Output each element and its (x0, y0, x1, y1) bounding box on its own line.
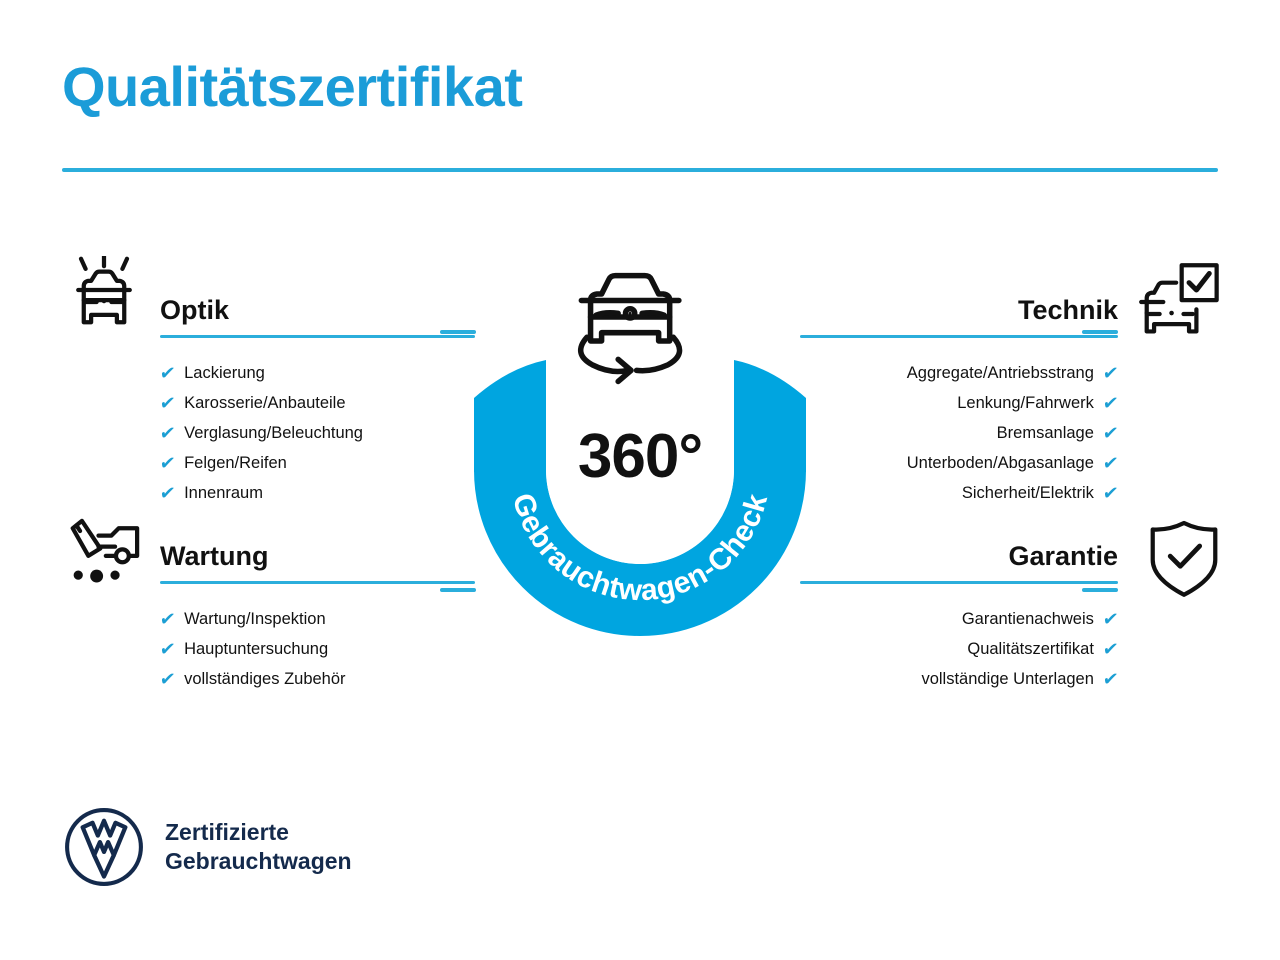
car-checkbox-icon (1132, 256, 1224, 348)
check-icon: ✔ (159, 394, 177, 412)
quality-certificate-page: { "header": { "title": "Qualitätszertifi… (0, 0, 1280, 960)
check-icon: ✔ (159, 424, 177, 442)
check-icon: ✔ (159, 364, 177, 382)
list-item-label: Unterboden/Abgasanlage (907, 448, 1094, 478)
check-icon: ✔ (1102, 364, 1120, 382)
section-heading-optik: Optik (160, 296, 475, 324)
list-item-label: Wartung/Inspektion (184, 604, 326, 634)
check-icon: ✔ (159, 484, 177, 502)
check-icon: ✔ (1102, 424, 1120, 442)
check-icon: ✔ (1102, 610, 1120, 628)
check-icon: ✔ (159, 454, 177, 472)
section-wartung: Wartung ✔Wartung/Inspektion ✔Hauptunters… (160, 542, 475, 694)
checklist-technik: Aggregate/Antriebsstrang✔ Lenkung/Fahrwe… (800, 358, 1118, 508)
checklist-optik: ✔Lackierung ✔Karosserie/Anbauteile ✔Verg… (160, 358, 475, 508)
volkswagen-certified-logo: Zertifizierte Gebrauchtwagen (63, 806, 352, 888)
list-item-label: vollständiges Zubehör (184, 664, 345, 694)
list-item: vollständige Unterlagen✔ (800, 664, 1118, 694)
list-item: ✔Verglasung/Beleuchtung (160, 418, 475, 448)
section-divider-optik (160, 335, 475, 338)
list-item: Sicherheit/Elektrik✔ (800, 478, 1118, 508)
list-item: Unterboden/Abgasanlage✔ (800, 448, 1118, 478)
section-divider-technik (800, 335, 1118, 338)
check-icon: ✔ (159, 610, 177, 628)
check-icon: ✔ (159, 640, 177, 658)
list-item-label: Qualitätszertifikat (967, 634, 1094, 664)
list-item: ✔Lackierung (160, 358, 475, 388)
list-item: ✔Hauptuntersuchung (160, 634, 475, 664)
car-shine-icon (58, 256, 150, 348)
check-icon: ✔ (1102, 670, 1120, 688)
check-icon: ✔ (1102, 454, 1120, 472)
list-item: ✔Karosserie/Anbauteile (160, 388, 475, 418)
list-item-label: Lackierung (184, 358, 265, 388)
list-item-label: vollständige Unterlagen (921, 664, 1093, 694)
list-item-label: Karosserie/Anbauteile (184, 388, 345, 418)
certified-line-2: Gebrauchtwagen (165, 847, 352, 876)
volkswagen-logo (63, 806, 145, 888)
check-icon: ✔ (1102, 484, 1120, 502)
list-item-label: Garantienachweis (962, 604, 1094, 634)
list-item: ✔Felgen/Reifen (160, 448, 475, 478)
section-heading-technik: Technik (800, 296, 1118, 324)
list-item: Qualitätszertifikat✔ (800, 634, 1118, 664)
list-item-label: Felgen/Reifen (184, 448, 287, 478)
check-icon: ✔ (1102, 640, 1120, 658)
list-item-label: Aggregate/Antriebsstrang (907, 358, 1094, 388)
list-item: Bremsanlage✔ (800, 418, 1118, 448)
360-check-badge: Gebrauchtwagen-Check 360° (468, 248, 812, 638)
list-item-label: Sicherheit/Elektrik (962, 478, 1094, 508)
list-item-label: Verglasung/Beleuchtung (184, 418, 363, 448)
checklist-garantie: Garantienachweis✔ Qualitätszertifikat✔ v… (800, 604, 1118, 694)
list-item: ✔vollständiges Zubehör (160, 664, 475, 694)
list-item: Lenkung/Fahrwerk✔ (800, 388, 1118, 418)
list-item-label: Hauptuntersuchung (184, 634, 328, 664)
check-icon: ✔ (1102, 394, 1120, 412)
car-service-pencil-icon (58, 508, 150, 600)
section-heading-garantie: Garantie (800, 542, 1118, 570)
title-divider (62, 168, 1218, 172)
section-heading-wartung: Wartung (160, 542, 475, 570)
badge-center-number: 360° (468, 426, 812, 488)
list-item: Garantienachweis✔ (800, 604, 1118, 634)
list-item: Aggregate/Antriebsstrang✔ (800, 358, 1118, 388)
section-divider-garantie (800, 581, 1118, 584)
list-item: ✔Innenraum (160, 478, 475, 508)
page-title: Qualitätszertifikat (62, 56, 522, 118)
section-technik: Technik Aggregate/Antriebsstrang✔ Lenkun… (800, 296, 1118, 508)
section-divider-wartung (160, 581, 475, 584)
list-item-label: Lenkung/Fahrwerk (957, 388, 1094, 418)
certified-used-cars-label: Zertifizierte Gebrauchtwagen (165, 818, 352, 877)
list-item-label: Bremsanlage (997, 418, 1094, 448)
list-item-label: Innenraum (184, 478, 263, 508)
check-icon: ✔ (159, 670, 177, 688)
section-optik: Optik ✔Lackierung ✔Karosserie/Anbauteile… (160, 296, 475, 508)
checklist-wartung: ✔Wartung/Inspektion ✔Hauptuntersuchung ✔… (160, 604, 475, 694)
shield-check-icon (1138, 512, 1230, 604)
certified-line-1: Zertifizierte (165, 818, 352, 847)
section-garantie: Garantie Garantienachweis✔ Qualitätszert… (800, 542, 1118, 694)
list-item: ✔Wartung/Inspektion (160, 604, 475, 634)
